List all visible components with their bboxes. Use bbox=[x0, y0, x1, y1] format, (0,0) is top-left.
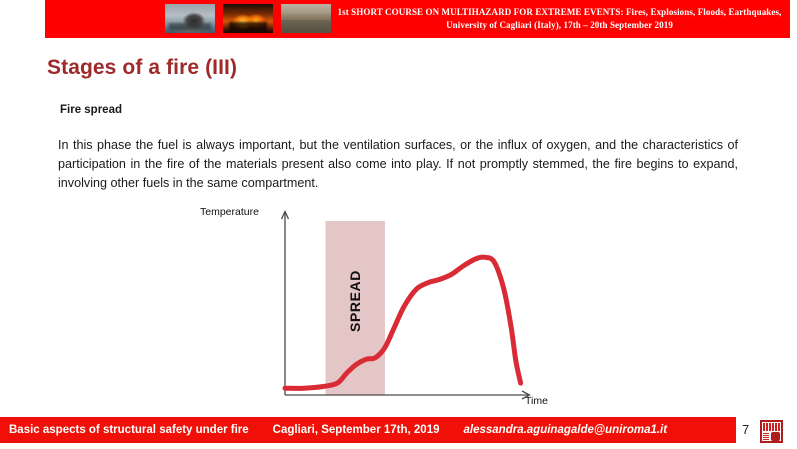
temperature-curve bbox=[285, 257, 521, 388]
logo-dot-icon bbox=[771, 432, 780, 441]
explosion-smoke-photo bbox=[165, 4, 215, 33]
header-thumbnails bbox=[165, 4, 331, 33]
header-line-2: University of Cagliari (Italy), 17th – 2… bbox=[335, 19, 784, 32]
page-title: Stages of a fire (III) bbox=[47, 56, 237, 80]
logo-grid-icon bbox=[763, 423, 780, 431]
footer-bar: Basic aspects of structural safety under… bbox=[0, 417, 736, 443]
header-title-block: 1st SHORT COURSE ON MULTIHAZARD FOR EXTR… bbox=[335, 6, 784, 32]
page-number: 7 bbox=[742, 422, 749, 437]
header-bar: 1st SHORT COURSE ON MULTIHAZARD FOR EXTR… bbox=[45, 0, 790, 38]
footer-place-date: Cagliari, September 17th, 2019 bbox=[273, 424, 440, 436]
logo-bar-icon bbox=[763, 433, 769, 440]
body-paragraph: In this phase the fuel is always importa… bbox=[58, 136, 738, 193]
fire-temperature-chart: Temperature Time SPREAD bbox=[195, 203, 575, 415]
fire-photo bbox=[223, 4, 273, 33]
chart-plot-area bbox=[195, 203, 575, 415]
footer-course-title: Basic aspects of structural safety under… bbox=[9, 424, 249, 436]
sapienza-logo bbox=[760, 420, 783, 443]
footer-email: alessandra.aguinagalde@uniroma1.it bbox=[464, 424, 668, 436]
header-line-1: 1st SHORT COURSE ON MULTIHAZARD FOR EXTR… bbox=[335, 6, 784, 19]
section-subhead: Fire spread bbox=[60, 104, 122, 116]
flood-photo bbox=[281, 4, 331, 33]
spread-band-label: SPREAD bbox=[347, 246, 363, 356]
